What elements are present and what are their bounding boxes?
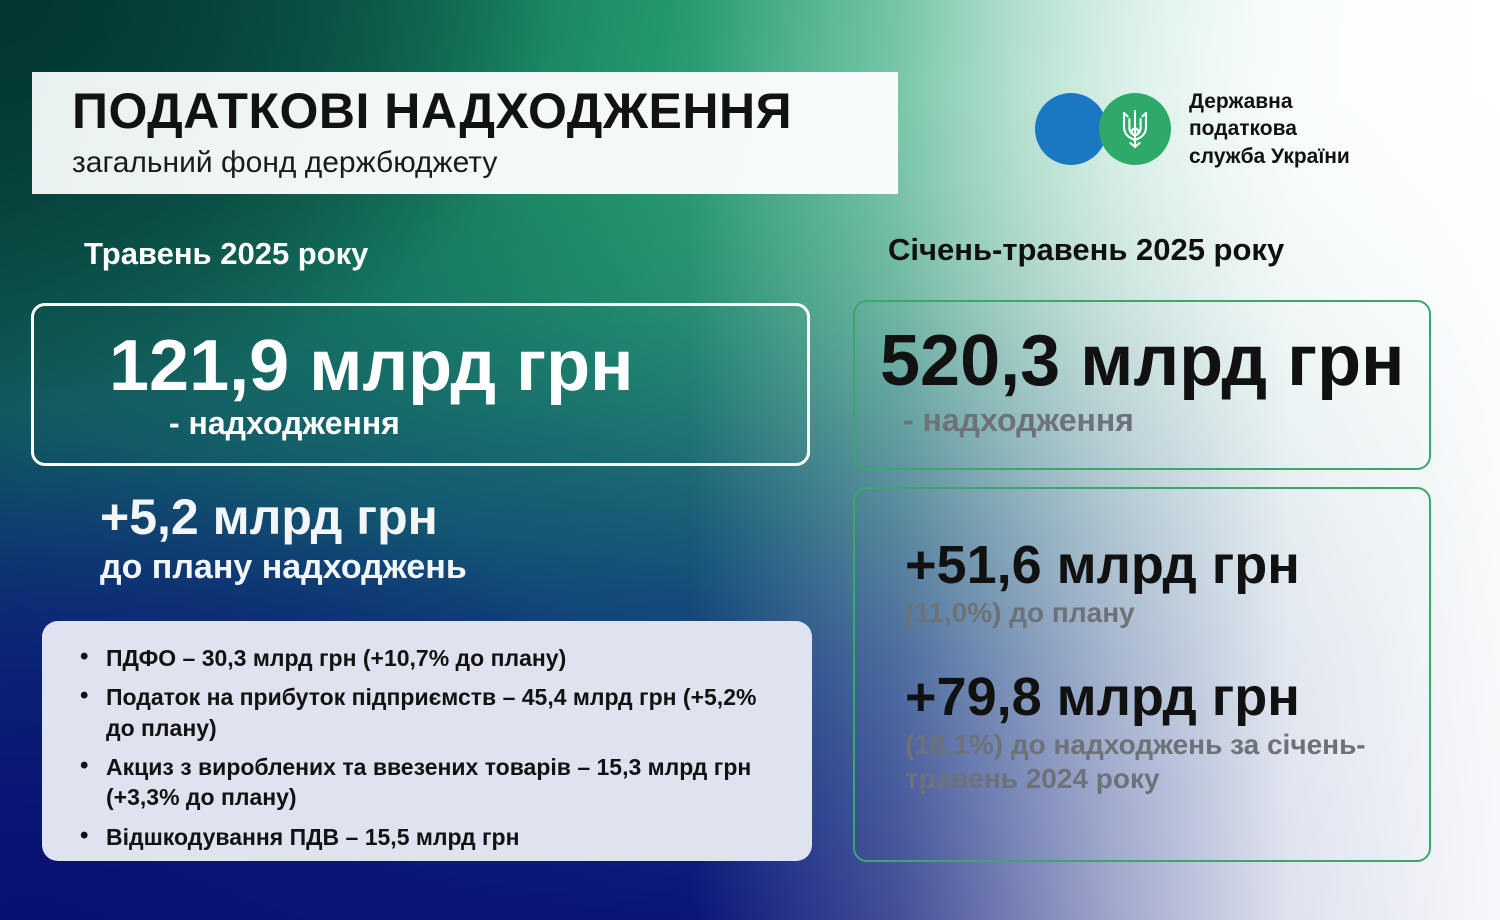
list-item: ПДФО – 30,3 млрд грн (+10,7% до плану) — [76, 643, 788, 673]
left-headline-card: 121,9 млрд грн - надходження — [31, 303, 810, 466]
left-breakdown-panel: ПДФО – 30,3 млрд грн (+10,7% до плану) П… — [42, 621, 812, 861]
metric-plan-caption: (11,0%) до плану — [905, 596, 1300, 630]
left-plan-caption: до плану надходжень — [100, 548, 467, 587]
list-item: Податок на прибуток підприємств – 45,4 м… — [76, 682, 788, 743]
list-item: Акциз з вироблених та ввезених товарів –… — [76, 752, 788, 813]
left-plan-value: +5,2 млрд грн — [100, 488, 438, 546]
right-section-title: Січень-травень 2025 року — [888, 232, 1284, 268]
right-headline-card: 520,3 млрд грн - надходження — [853, 300, 1431, 470]
trident-icon — [1118, 107, 1152, 151]
breakdown-list: ПДФО – 30,3 млрд грн (+10,7% до плану) П… — [76, 643, 788, 852]
logo-text-line-2: податкова — [1189, 115, 1350, 142]
title-panel: ПОДАТКОВІ НАДХОДЖЕННЯ загальний фонд дер… — [32, 72, 898, 194]
infographic-canvas: ПОДАТКОВІ НАДХОДЖЕННЯ загальний фонд дер… — [0, 0, 1500, 920]
metric-yoy-value: +79,8 млрд грн — [905, 666, 1405, 728]
right-metrics-card: +51,6 млрд грн (11,0%) до плану +79,8 мл… — [853, 487, 1431, 862]
list-item: Відшкодування ПДВ – 15,5 млрд грн — [76, 822, 788, 852]
right-headline-value: 520,3 млрд грн — [880, 320, 1405, 402]
metric-yoy-caption: (18,1%) до надходжень за січень-травень … — [905, 728, 1405, 796]
metric-plan: +51,6 млрд грн (11,0%) до плану — [905, 534, 1300, 630]
metric-yoy: +79,8 млрд грн (18,1%) до надходжень за … — [905, 666, 1405, 796]
page-subtitle: загальний фонд держбюджету — [72, 146, 497, 180]
page-title: ПОДАТКОВІ НАДХОДЖЕННЯ — [72, 82, 792, 140]
right-headline-caption: - надходження — [903, 402, 1134, 439]
left-section-title: Травень 2025 року — [84, 236, 368, 272]
logo-green-circle-icon — [1099, 93, 1171, 165]
left-headline-value: 121,9 млрд грн — [109, 325, 634, 407]
left-headline-caption: - надходження — [169, 405, 400, 442]
logo-text: Державна податкова служба України — [1189, 88, 1350, 170]
agency-logo: Державна податкова служба України — [1035, 88, 1350, 170]
logo-blue-circle-icon — [1035, 93, 1107, 165]
logo-text-line-3: служба України — [1189, 143, 1350, 170]
metric-plan-value: +51,6 млрд грн — [905, 534, 1300, 596]
logo-text-line-1: Державна — [1189, 88, 1350, 115]
